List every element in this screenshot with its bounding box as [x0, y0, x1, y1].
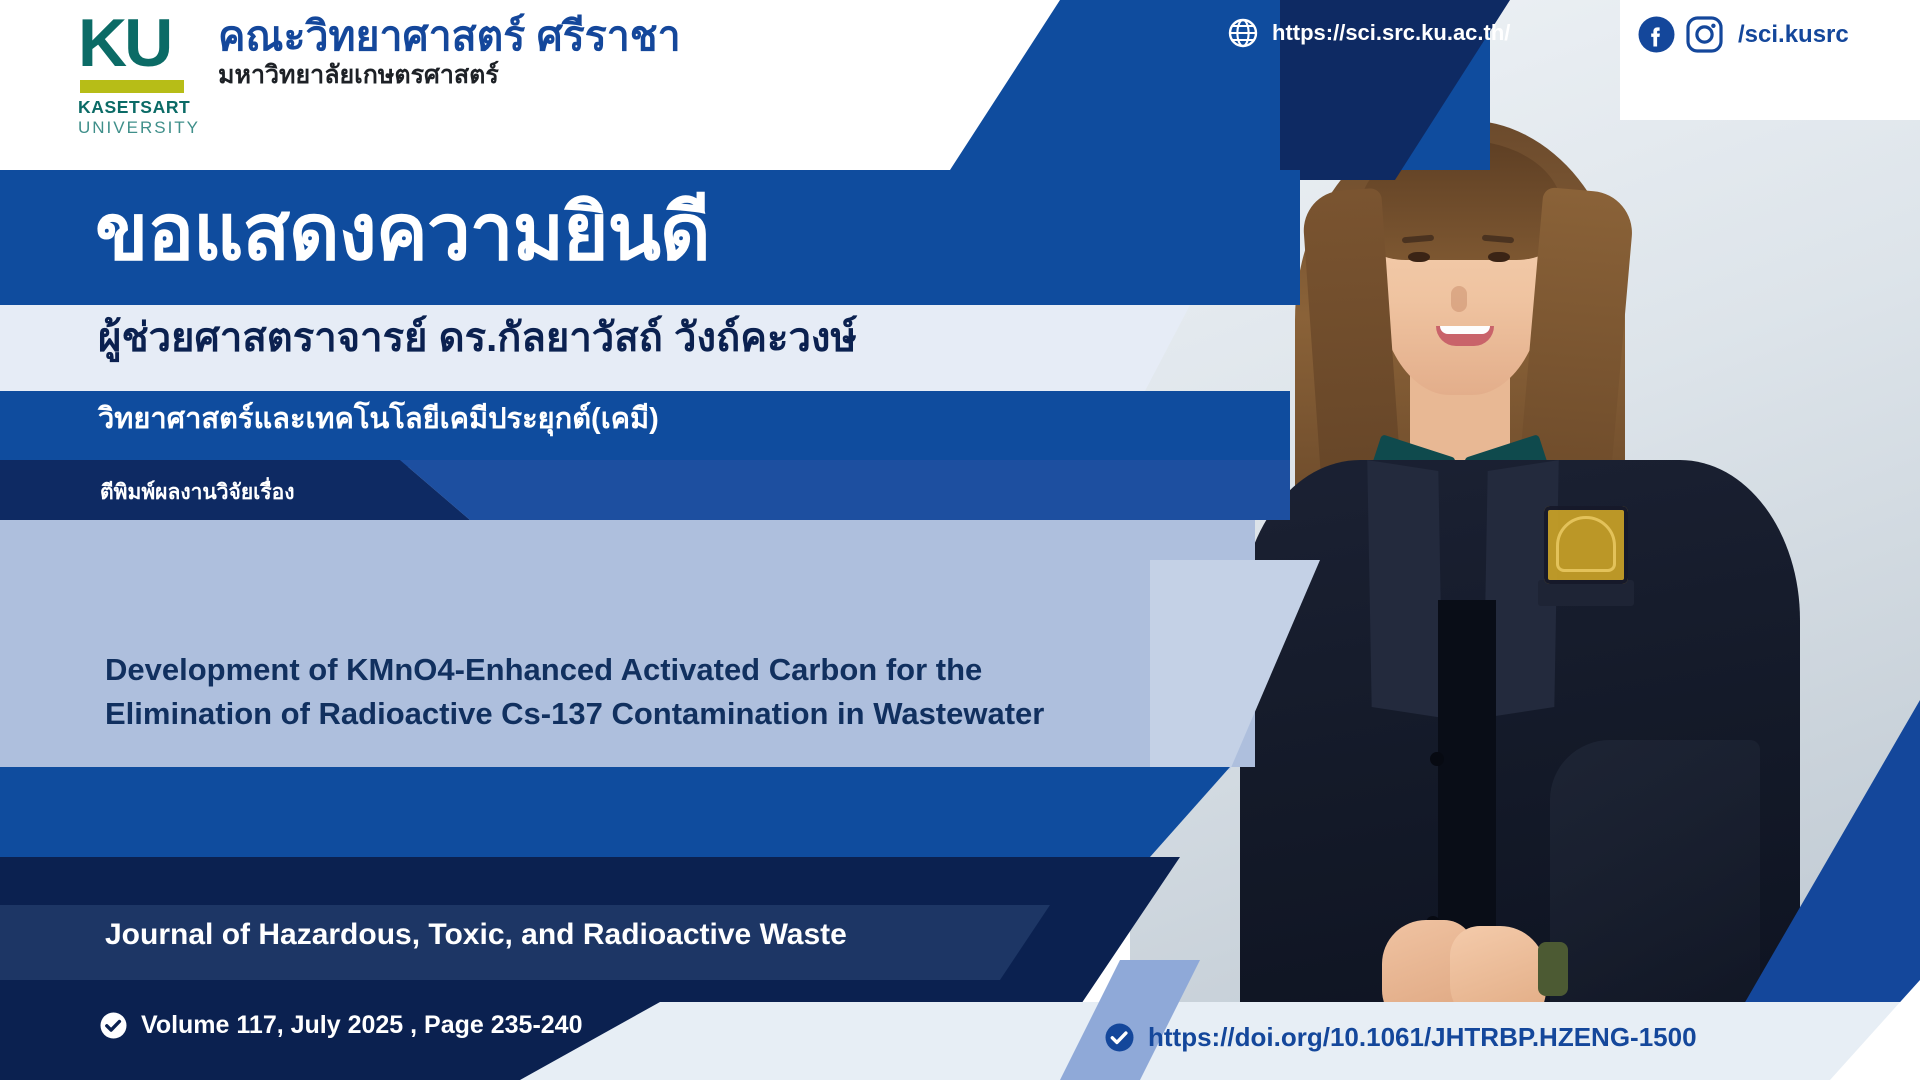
doi-url-text: https://doi.org/10.1061/JHTRBP.HZENG-150…: [1148, 1022, 1697, 1053]
ku-logo-name-line2: UNIVERSITY: [78, 118, 196, 138]
publication-label: ตีพิมพ์ผลงานวิจัยเรื่อง: [100, 476, 294, 509]
university-name-th: มหาวิทยาลัยเกษตรศาสตร์: [218, 60, 681, 90]
eye-left: [1408, 252, 1430, 262]
lapel-left: [1367, 460, 1442, 718]
faculty-name-th: คณะวิทยาศาสตร์ ศรีราชา: [218, 14, 681, 58]
volume-text: Volume 117, July 2025 , Page 235-240: [141, 1011, 582, 1040]
ku-logo-name-line1: KASETSART: [78, 97, 196, 118]
social-handle-text: /sci.kusrc: [1738, 21, 1849, 49]
doi-link[interactable]: https://doi.org/10.1061/JHTRBP.HZENG-150…: [1105, 1022, 1697, 1053]
nose-shape: [1451, 286, 1467, 312]
social-links[interactable]: /sci.kusrc: [1638, 16, 1849, 53]
journal-name: Journal of Hazardous, Toxic, and Radioac…: [105, 918, 847, 952]
eye-right: [1488, 252, 1510, 262]
faculty-titles: คณะวิทยาศาสตร์ ศรีราชา มหาวิทยาลัยเกษตรศ…: [218, 14, 681, 90]
check-circle-icon: [100, 1012, 127, 1039]
website-link[interactable]: https://sci.src.ku.ac.th/: [1228, 18, 1510, 48]
ku-logo-olive-bar: [80, 80, 184, 93]
department-name: วิทยาศาสตร์และเทคโนโลยีเคมีประยุกต์(เคมี…: [98, 404, 659, 436]
congratulations-headline: ขอแสดงความยินดี: [95, 193, 710, 271]
volume-info: Volume 117, July 2025 , Page 235-240: [100, 1011, 582, 1040]
brand-lockup: KU KASETSART UNIVERSITY คณะวิทยาศาสตร์ ศ…: [78, 14, 681, 138]
globe-icon: [1228, 18, 1258, 48]
facebook-icon[interactable]: [1638, 16, 1675, 53]
kasetsart-crest-detail: [1556, 516, 1616, 572]
honoree-name: ผู้ช่วยศาสตราจารย์ ดร.กัลยาวัสถ์ วังถ์คะ…: [98, 316, 857, 361]
ku-logo: KU KASETSART UNIVERSITY: [78, 14, 196, 138]
instagram-icon[interactable]: [1686, 16, 1723, 53]
ku-logo-mark: KU: [78, 14, 196, 72]
jacket-button-top: [1430, 752, 1444, 766]
teeth-shape: [1440, 326, 1490, 334]
website-url-text: https://sci.src.ku.ac.th/: [1272, 20, 1510, 46]
mid-blue-band: [0, 767, 1230, 857]
paper-title: Development of KMnO4-Enhanced Activated …: [105, 648, 1065, 736]
poster-canvas: KU KASETSART UNIVERSITY คณะวิทยาศาสตร์ ศ…: [0, 0, 1920, 1080]
wristwatch: [1538, 942, 1568, 996]
check-circle-icon: [1105, 1023, 1134, 1052]
